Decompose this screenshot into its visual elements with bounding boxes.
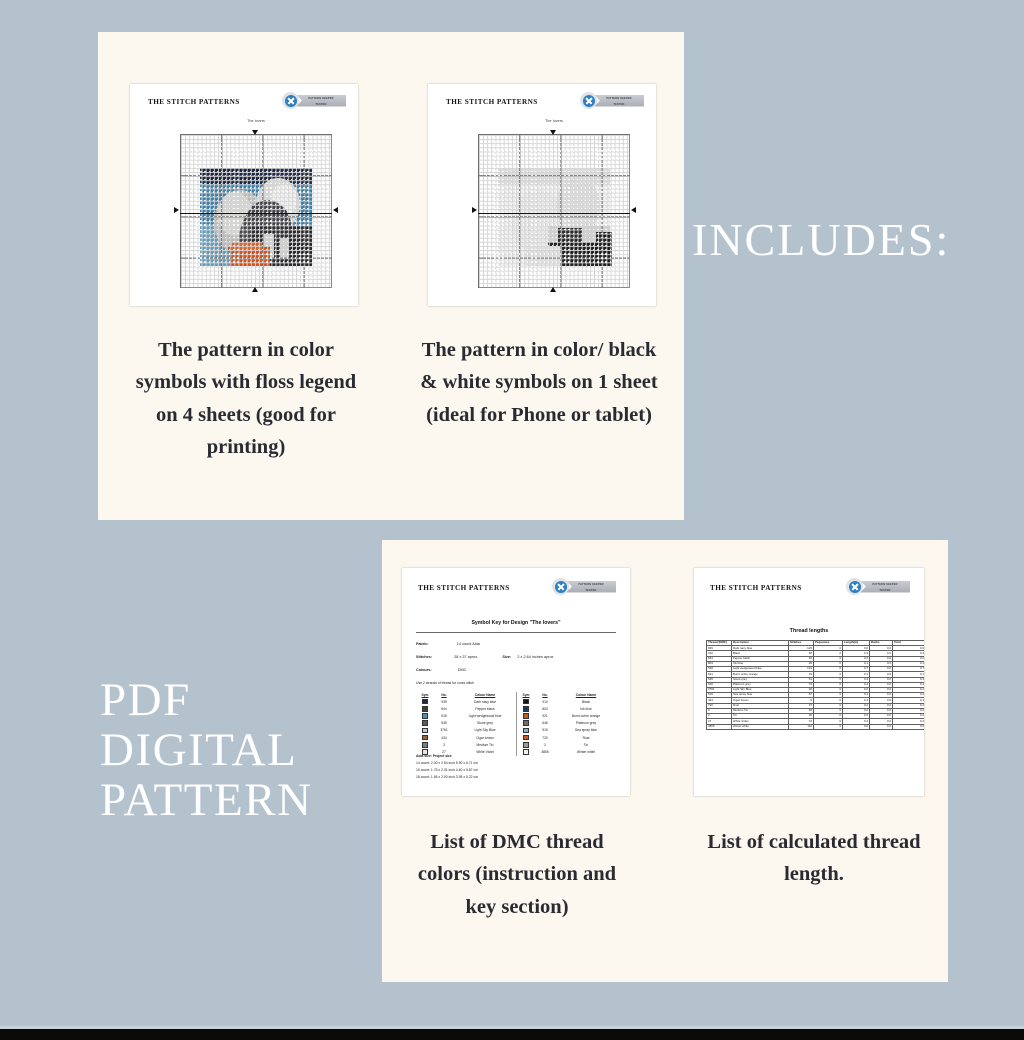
backs-count: 0.0 <box>870 724 893 729</box>
spec-value-size: 2 x 2.64 inches aprox <box>517 655 553 659</box>
caption-color-symbols: The pattern in color symbols with floss … <box>132 334 360 464</box>
sheet-brand-title: THE STITCH PATTERNS <box>710 584 802 592</box>
poster-canvas: THE STITCH PATTERNS PATTERN KEEPER TESTE… <box>0 0 1024 1040</box>
pattern-keeper-badge: PATTERN KEEPER TESTED <box>552 578 616 595</box>
chart-axis-horizontal <box>478 213 630 214</box>
badge-ribbon: PATTERN KEEPER TESTED <box>594 95 644 107</box>
badge-ribbon: PATTERN KEEPER TESTED <box>860 581 910 593</box>
dmc-number: 646 <box>535 720 555 727</box>
badge-line2: TESTED <box>860 586 910 592</box>
preview-sheet-bw-symbols[interactable]: THE STITCH PATTERNS PATTERN KEEPER TESTE… <box>428 84 656 306</box>
symbol-key-title: Symbol Key for Design "The lovers" <box>402 620 630 626</box>
chart-marker-left <box>472 207 477 213</box>
symbol-swatch <box>517 712 536 719</box>
chart-design-label: The lovers <box>472 119 636 123</box>
spec-label-fabric: Fabric: <box>416 642 429 646</box>
symbol-swatch <box>517 734 536 741</box>
thread-description: Winter white <box>732 724 789 729</box>
dmc-number: 535 <box>434 720 454 727</box>
table-row: 3761Light Sky Blue519Sea spray blue <box>416 727 617 734</box>
pdf-line-3: PATTERN <box>100 776 312 826</box>
strands-note: Use 2 strands of thread for cross stitch <box>416 681 474 686</box>
badge-line2: TESTED <box>594 100 644 106</box>
dmc-number: 310 <box>535 698 555 705</box>
symbol-swatch <box>416 720 434 727</box>
caption-bw-symbols: The pattern in color/ black & white symb… <box>420 334 658 431</box>
preview-sheet-color-symbols[interactable]: THE STITCH PATTERNS PATTERN KEEPER TESTE… <box>130 84 358 306</box>
colour-name: Tin <box>555 741 617 748</box>
dmc-number: 3761 <box>434 727 454 734</box>
table-row: 518Light wedgewood blue921Burnt ochre or… <box>416 712 617 719</box>
spec-label-stitches: Stitches: <box>416 655 432 659</box>
symbol-swatch <box>517 698 536 705</box>
table-row: 844Pepper black803Ink blue <box>416 705 617 712</box>
sheet-brand-title: THE STITCH PATTERNS <box>446 98 538 106</box>
badge-line2: TESTED <box>296 100 346 106</box>
symbol-swatch <box>416 712 434 719</box>
symbol-swatch <box>416 741 434 748</box>
includes-heading: INCLUDES: <box>692 216 950 265</box>
x-seal-icon <box>282 92 299 109</box>
chart-marker-left <box>174 207 179 213</box>
chart-marker-right <box>333 207 338 213</box>
colour-name: Rust <box>555 734 617 741</box>
badge-ribbon: PATTERN KEEPER TESTED <box>296 95 346 107</box>
colour-name: Sea spray blue <box>555 727 617 734</box>
spec-value-stitches: 28 x 37 aprox. <box>454 655 478 659</box>
aida-line-2: 16 count: 1.75 x 2.31 inch 4.40 x 5.87 c… <box>416 768 478 773</box>
colour-name: Light Sky Blue <box>454 727 517 734</box>
chart-bw-symbols: The lovers <box>472 128 636 294</box>
stitches-count: 110 <box>789 724 814 729</box>
aida-line-1: 14 count: 2.00 x 2.64 inch 5.90 x 6.71 c… <box>416 761 478 766</box>
dmc-number: 720 <box>535 734 555 741</box>
sheet-brand-title: THE STITCH PATTERNS <box>148 98 240 106</box>
table-row: 3865Winter white11000.60.00.6 <box>707 724 925 729</box>
spec-label-size: Size: <box>502 655 511 659</box>
caption-dmc-list: List of DMC thread colors (instruction a… <box>404 826 630 923</box>
colour-name: Cigar brown <box>454 734 517 741</box>
dmc-number: 844 <box>434 705 454 712</box>
badge-ribbon: PATTERN KEEPER TESTED <box>566 581 616 593</box>
spec-value-fabric: 14 count Aida <box>457 642 480 646</box>
chart-marker-top <box>550 130 556 135</box>
thread-number: 3865 <box>707 724 732 729</box>
pattern-keeper-badge: PATTERN KEEPER TESTED <box>580 92 644 109</box>
table-row: 3Medium Tin2Tin <box>416 741 617 748</box>
colour-name: Stone grey <box>454 720 517 727</box>
pdf-digital-pattern-heading: PDF DIGITAL PATTERN <box>100 676 312 825</box>
dmc-number: 3 <box>434 741 454 748</box>
dmc-number: 803 <box>535 705 555 712</box>
colour-name: Dark navy blue <box>454 698 517 705</box>
colour-name: Platinum grey <box>555 720 617 727</box>
symbol-swatch <box>517 727 536 734</box>
pequenies-count: 0 <box>814 724 843 729</box>
chart-axis-horizontal <box>180 213 332 214</box>
chart-grid-minor <box>180 134 332 288</box>
table-row: 535Stone grey646Platinum grey <box>416 720 617 727</box>
colour-name: Burnt ochre orange <box>555 712 617 719</box>
colour-name: White Violet <box>454 748 517 755</box>
length-meters: 0.6 <box>843 724 870 729</box>
dmc-number: 921 <box>535 712 555 719</box>
pdf-line-2: DIGITAL <box>100 726 312 776</box>
chart-design-label: The lovers <box>174 119 338 123</box>
bottom-black-bar <box>0 1029 1024 1040</box>
thread-lengths-body: 939Dark navy blue12500.60.00.6310Black66… <box>707 646 925 730</box>
sheet-brand-title: THE STITCH PATTERNS <box>418 584 510 592</box>
chart-marker-bottom <box>550 287 556 292</box>
symbol-swatch <box>517 720 536 727</box>
symbol-swatch <box>416 698 434 705</box>
table-row: 939Dark navy blue310Black <box>416 698 617 705</box>
colour-name: Black <box>555 698 617 705</box>
colour-name: Light wedgewood blue <box>454 712 517 719</box>
chart-marker-bottom <box>252 287 258 292</box>
thread-lengths-title: Thread lengths <box>694 628 924 634</box>
symbol-swatch <box>517 705 536 712</box>
table-row: 434Cigar brown720Rust <box>416 734 617 741</box>
symbol-swatch <box>517 748 536 755</box>
colour-name: Ink blue <box>555 705 617 712</box>
preview-sheet-thread-lengths[interactable]: THE STITCH PATTERNS PATTERN KEEPER TESTE… <box>694 568 924 796</box>
spec-label-colours: Colours: <box>416 668 432 672</box>
dmc-number: 2 <box>535 741 555 748</box>
preview-sheet-dmc-key[interactable]: THE STITCH PATTERNS PATTERN KEEPER TESTE… <box>402 568 630 796</box>
dmc-number: 434 <box>434 734 454 741</box>
dmc-symbol-key-table: Sym No. Colour Name Sym No. Colour Name … <box>416 692 617 756</box>
badge-line2: TESTED <box>566 586 616 592</box>
aida-line-3: 18 count: 1.56 x 2.00 inch 3.95 x 5.22 c… <box>416 775 478 780</box>
divider <box>416 632 616 633</box>
x-seal-icon <box>552 578 569 595</box>
chart-grid-minor <box>478 134 630 288</box>
symbol-swatch <box>416 734 434 741</box>
symbol-swatch <box>517 741 536 748</box>
dmc-number: 939 <box>434 698 454 705</box>
pdf-line-1: PDF <box>100 676 312 726</box>
colour-name: Pepper black <box>454 705 517 712</box>
chart-marker-right <box>631 207 636 213</box>
dmc-number: 519 <box>535 727 555 734</box>
colour-name: Medium Tin <box>454 741 517 748</box>
chart-color-symbols: The lovers <box>174 128 338 294</box>
total-length: 0.6 <box>893 724 925 729</box>
thread-lengths-table: Thread (DMC) Description Stitches Pequen… <box>706 640 924 730</box>
pattern-keeper-badge: PATTERN KEEPER TESTED <box>846 578 910 595</box>
dmc-number: 3865 <box>535 748 555 755</box>
dmc-number: 518 <box>434 712 454 719</box>
caption-thread-length: List of calculated thread length. <box>694 826 934 891</box>
pattern-keeper-badge: PATTERN KEEPER TESTED <box>282 92 346 109</box>
aida-size-title: Aida size: Project size <box>416 754 452 759</box>
colour-name: Winter white <box>555 748 617 755</box>
x-seal-icon <box>846 578 863 595</box>
key-table-body: 939Dark navy blue310Black844Pepper black… <box>416 698 617 756</box>
spec-value-colours: DMC <box>458 668 467 672</box>
x-seal-icon <box>580 92 597 109</box>
symbol-swatch <box>416 727 434 734</box>
symbol-swatch <box>416 705 434 712</box>
chart-marker-top <box>252 130 258 135</box>
